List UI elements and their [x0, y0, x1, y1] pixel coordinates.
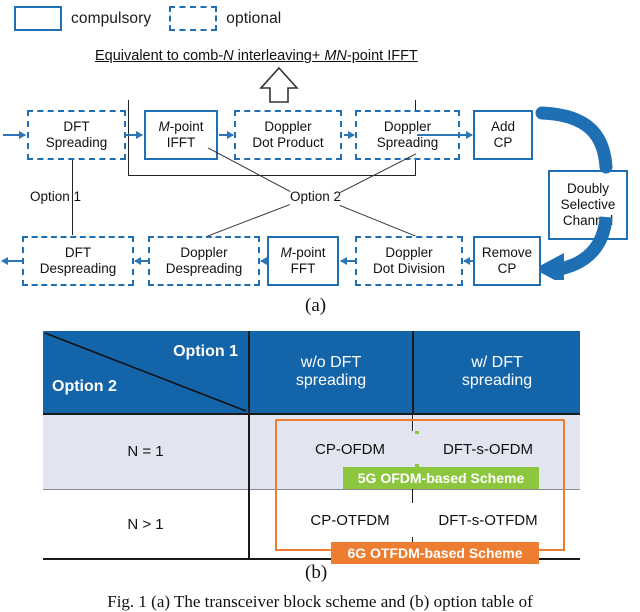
option2-label: Option 2 — [290, 189, 341, 204]
option2-leader-to-dot-division — [340, 205, 419, 238]
arrow-doppler-despreading-to-dft-despreading — [135, 260, 148, 262]
block-add-cp-line2: CP — [494, 135, 513, 151]
block-doppler-dot-division-line1: Doppler — [385, 245, 432, 261]
block-m-point-ifft-line2: IFFT — [167, 135, 196, 151]
block-m-point-fft-line2: FFT — [291, 261, 316, 277]
arrow-dft-spreading-to-ifft — [124, 134, 142, 136]
arrow-doppler-spreading-to-add-cp — [417, 134, 472, 136]
table-corner-option2: Option 2 — [52, 378, 117, 396]
block-add-cp-line1: Add — [491, 119, 515, 135]
block-m-point-fft[interactable]: M-point FFT — [267, 236, 339, 286]
table-rule-col2-header — [412, 331, 414, 413]
up-arrow-icon — [258, 66, 300, 104]
table-header-w-dft-line1: w/ DFT — [471, 354, 523, 372]
table-row-label-n-gt-1: N > 1 — [43, 490, 248, 559]
block-dft-despreading-line1: DFT — [65, 245, 91, 261]
block-dft-spreading-line2: Spreading — [46, 135, 108, 151]
table-rule-col1 — [248, 331, 250, 559]
table-header-w-dft: w/ DFT spreading — [414, 331, 580, 413]
option-table: Option 1 Option 2 w/o DFT spreading w/ D… — [43, 331, 580, 559]
table-header-wo-dft-line2: spreading — [296, 372, 366, 390]
table-value-dft-s-otfdm: DFT-s-OTFDM — [419, 503, 557, 537]
arrow-remove-cp-to-dot-division — [464, 260, 474, 262]
legend-compulsory-swatch-icon — [14, 6, 62, 31]
tag-6g-otfdm-based-scheme: 6G OTFDM-based Scheme — [331, 542, 539, 564]
block-doppler-despreading-line1: Doppler — [180, 245, 227, 261]
channel-loop-arrows-icon — [530, 105, 640, 280]
block-remove-cp[interactable]: Remove CP — [473, 236, 541, 286]
group-bracket-left — [128, 100, 129, 176]
table-corner-option1: Option 1 — [173, 343, 238, 361]
block-doppler-despreading[interactable]: Doppler Despreading — [148, 236, 260, 286]
tag-5g-ofdm-based-scheme: 5G OFDM-based Scheme — [343, 467, 539, 489]
block-doppler-dot-division-line2: Dot Division — [373, 261, 445, 277]
arrow-dot-division-to-fft — [341, 260, 355, 262]
block-add-cp[interactable]: Add CP — [473, 110, 533, 160]
block-doppler-spreading-line1: Doppler — [384, 119, 431, 135]
legend-compulsory-label: compulsory — [71, 10, 151, 28]
legend: compulsory optional — [14, 6, 281, 31]
arrow-dot-product-to-doppler-spreading — [344, 134, 354, 136]
arrow-ifft-to-dot-product — [219, 134, 233, 136]
block-doppler-dot-product[interactable]: Doppler Dot Product — [234, 110, 342, 160]
table-header-w-dft-line2: spreading — [462, 372, 532, 390]
table-header-wo-dft-line1: w/o DFT — [301, 354, 361, 372]
legend-optional-label: optional — [226, 10, 281, 28]
subfigure-a-label: (a) — [305, 295, 326, 317]
arrow-dft-despreading-to-out — [2, 260, 22, 262]
arrow-in-to-dft-spreading — [3, 134, 25, 136]
table-rule-bottom-header — [43, 413, 580, 415]
block-dft-despreading[interactable]: DFT Despreading — [22, 236, 134, 286]
arrow-fft-to-doppler-despreading — [261, 260, 267, 262]
subfigure-b-label: (b) — [305, 562, 327, 584]
block-dft-spreading-line1: DFT — [63, 119, 89, 135]
table-corner-cell: Option 1 Option 2 — [43, 331, 248, 413]
block-m-point-ifft[interactable]: M-point IFFT — [144, 110, 218, 160]
block-remove-cp-line2: CP — [498, 261, 517, 277]
block-doppler-spreading-line2: Spreading — [377, 135, 439, 151]
block-doppler-despreading-line2: Despreading — [166, 261, 243, 277]
block-m-point-ifft-line1: M-point — [158, 119, 203, 135]
figure-root: compulsory optional Equivalent to comb-N… — [0, 0, 640, 609]
block-remove-cp-line1: Remove — [482, 245, 532, 261]
table-header-wo-dft: w/o DFT spreading — [250, 331, 412, 413]
legend-optional-swatch-icon — [169, 6, 217, 31]
block-dft-despreading-line2: Despreading — [40, 261, 117, 277]
block-doppler-dot-product-line1: Doppler — [264, 119, 311, 135]
block-dft-spreading[interactable]: DFT Spreading — [27, 110, 126, 160]
table-value-cp-ofdm: CP-OFDM — [285, 431, 415, 467]
table-value-cp-otfdm: CP-OTFDM — [285, 503, 415, 537]
block-doppler-dot-division[interactable]: Doppler Dot Division — [355, 236, 463, 286]
figure-caption: Fig. 1 (a) The transceiver block scheme … — [0, 592, 640, 612]
option1-label: Option 1 — [30, 189, 81, 204]
equivalent-note: Equivalent to comb-N interleaving+ MN-po… — [95, 48, 418, 64]
table-value-dft-s-ofdm: DFT-s-OFDM — [419, 431, 557, 467]
table-row-label-n1: N = 1 — [43, 414, 248, 489]
block-m-point-fft-line1: M-point — [280, 245, 325, 261]
block-doppler-dot-product-line2: Dot Product — [252, 135, 323, 151]
